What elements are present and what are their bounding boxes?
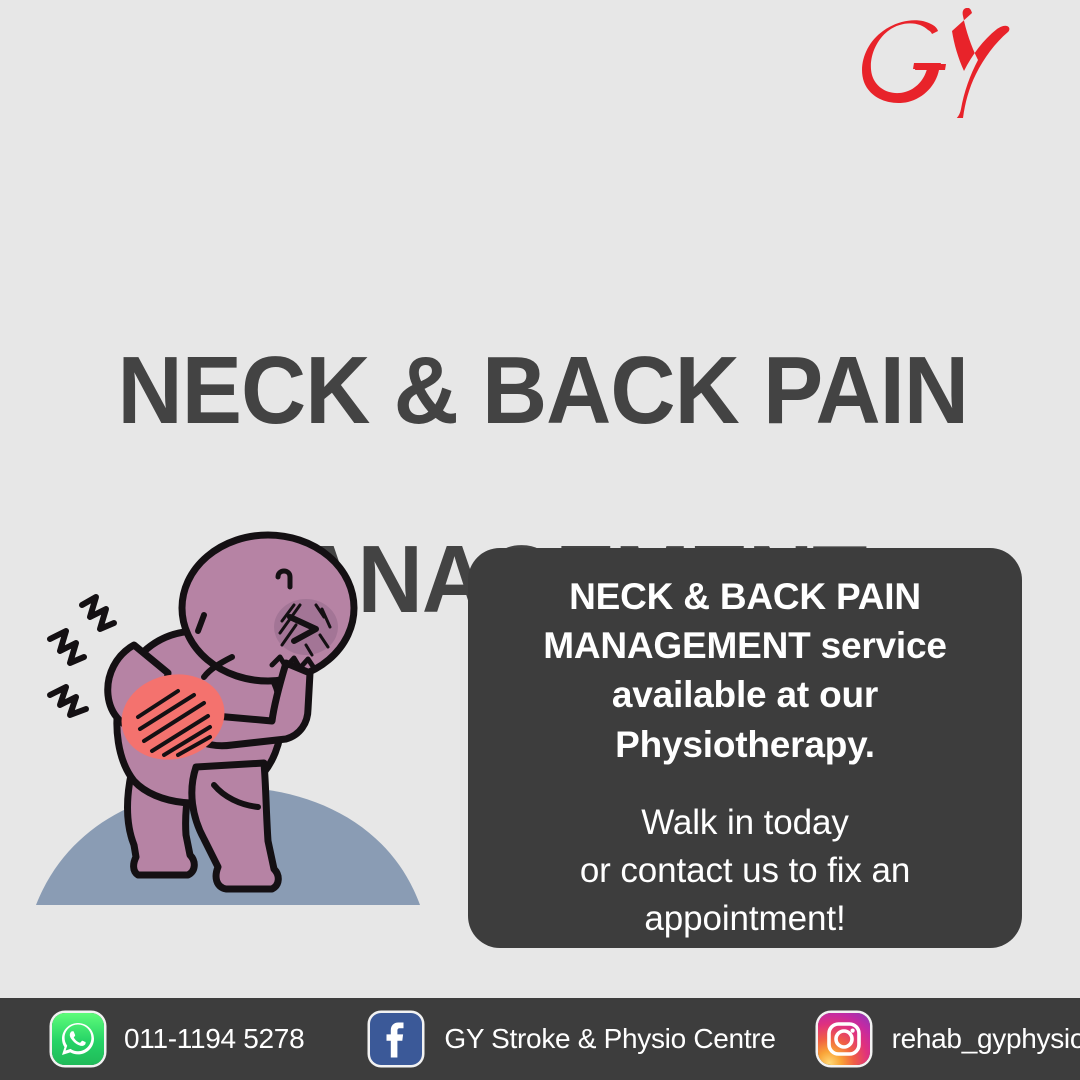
info-card: NECK & BACK PAIN MANAGEMENT service avai… (468, 548, 1022, 948)
card-subtext: Walk in today or contact us to fix an ap… (580, 769, 910, 944)
facebook-icon[interactable] (370, 1013, 422, 1065)
instagram-icon[interactable] (818, 1013, 870, 1065)
instagram-handle: rehab_gyphysio (892, 1023, 1080, 1055)
footer-item-instagram[interactable]: rehab_gyphysio (818, 998, 1080, 1080)
headline-line-1: NECK & BACK PAIN (32, 344, 1047, 438)
facebook-page-name: GY Stroke & Physio Centre (444, 1023, 775, 1055)
back-pain-illustration (28, 505, 438, 930)
footer-item-facebook[interactable]: GY Stroke & Physio Centre (370, 998, 775, 1080)
whatsapp-number: 011-1194 5278 (124, 1023, 304, 1055)
poster-canvas: NECK & BACK PAIN MANAGEMENT (0, 0, 1080, 1080)
contact-footer-bar: 011-1194 5278 GY Stroke & Physio Centre … (0, 998, 1080, 1080)
pain-motion-lines (50, 597, 114, 715)
whatsapp-icon[interactable] (52, 1013, 104, 1065)
footer-item-whatsapp[interactable]: 011-1194 5278 (52, 998, 304, 1080)
gy-brand-logo (856, 8, 1046, 118)
card-heading: NECK & BACK PAIN MANAGEMENT service avai… (543, 572, 947, 769)
